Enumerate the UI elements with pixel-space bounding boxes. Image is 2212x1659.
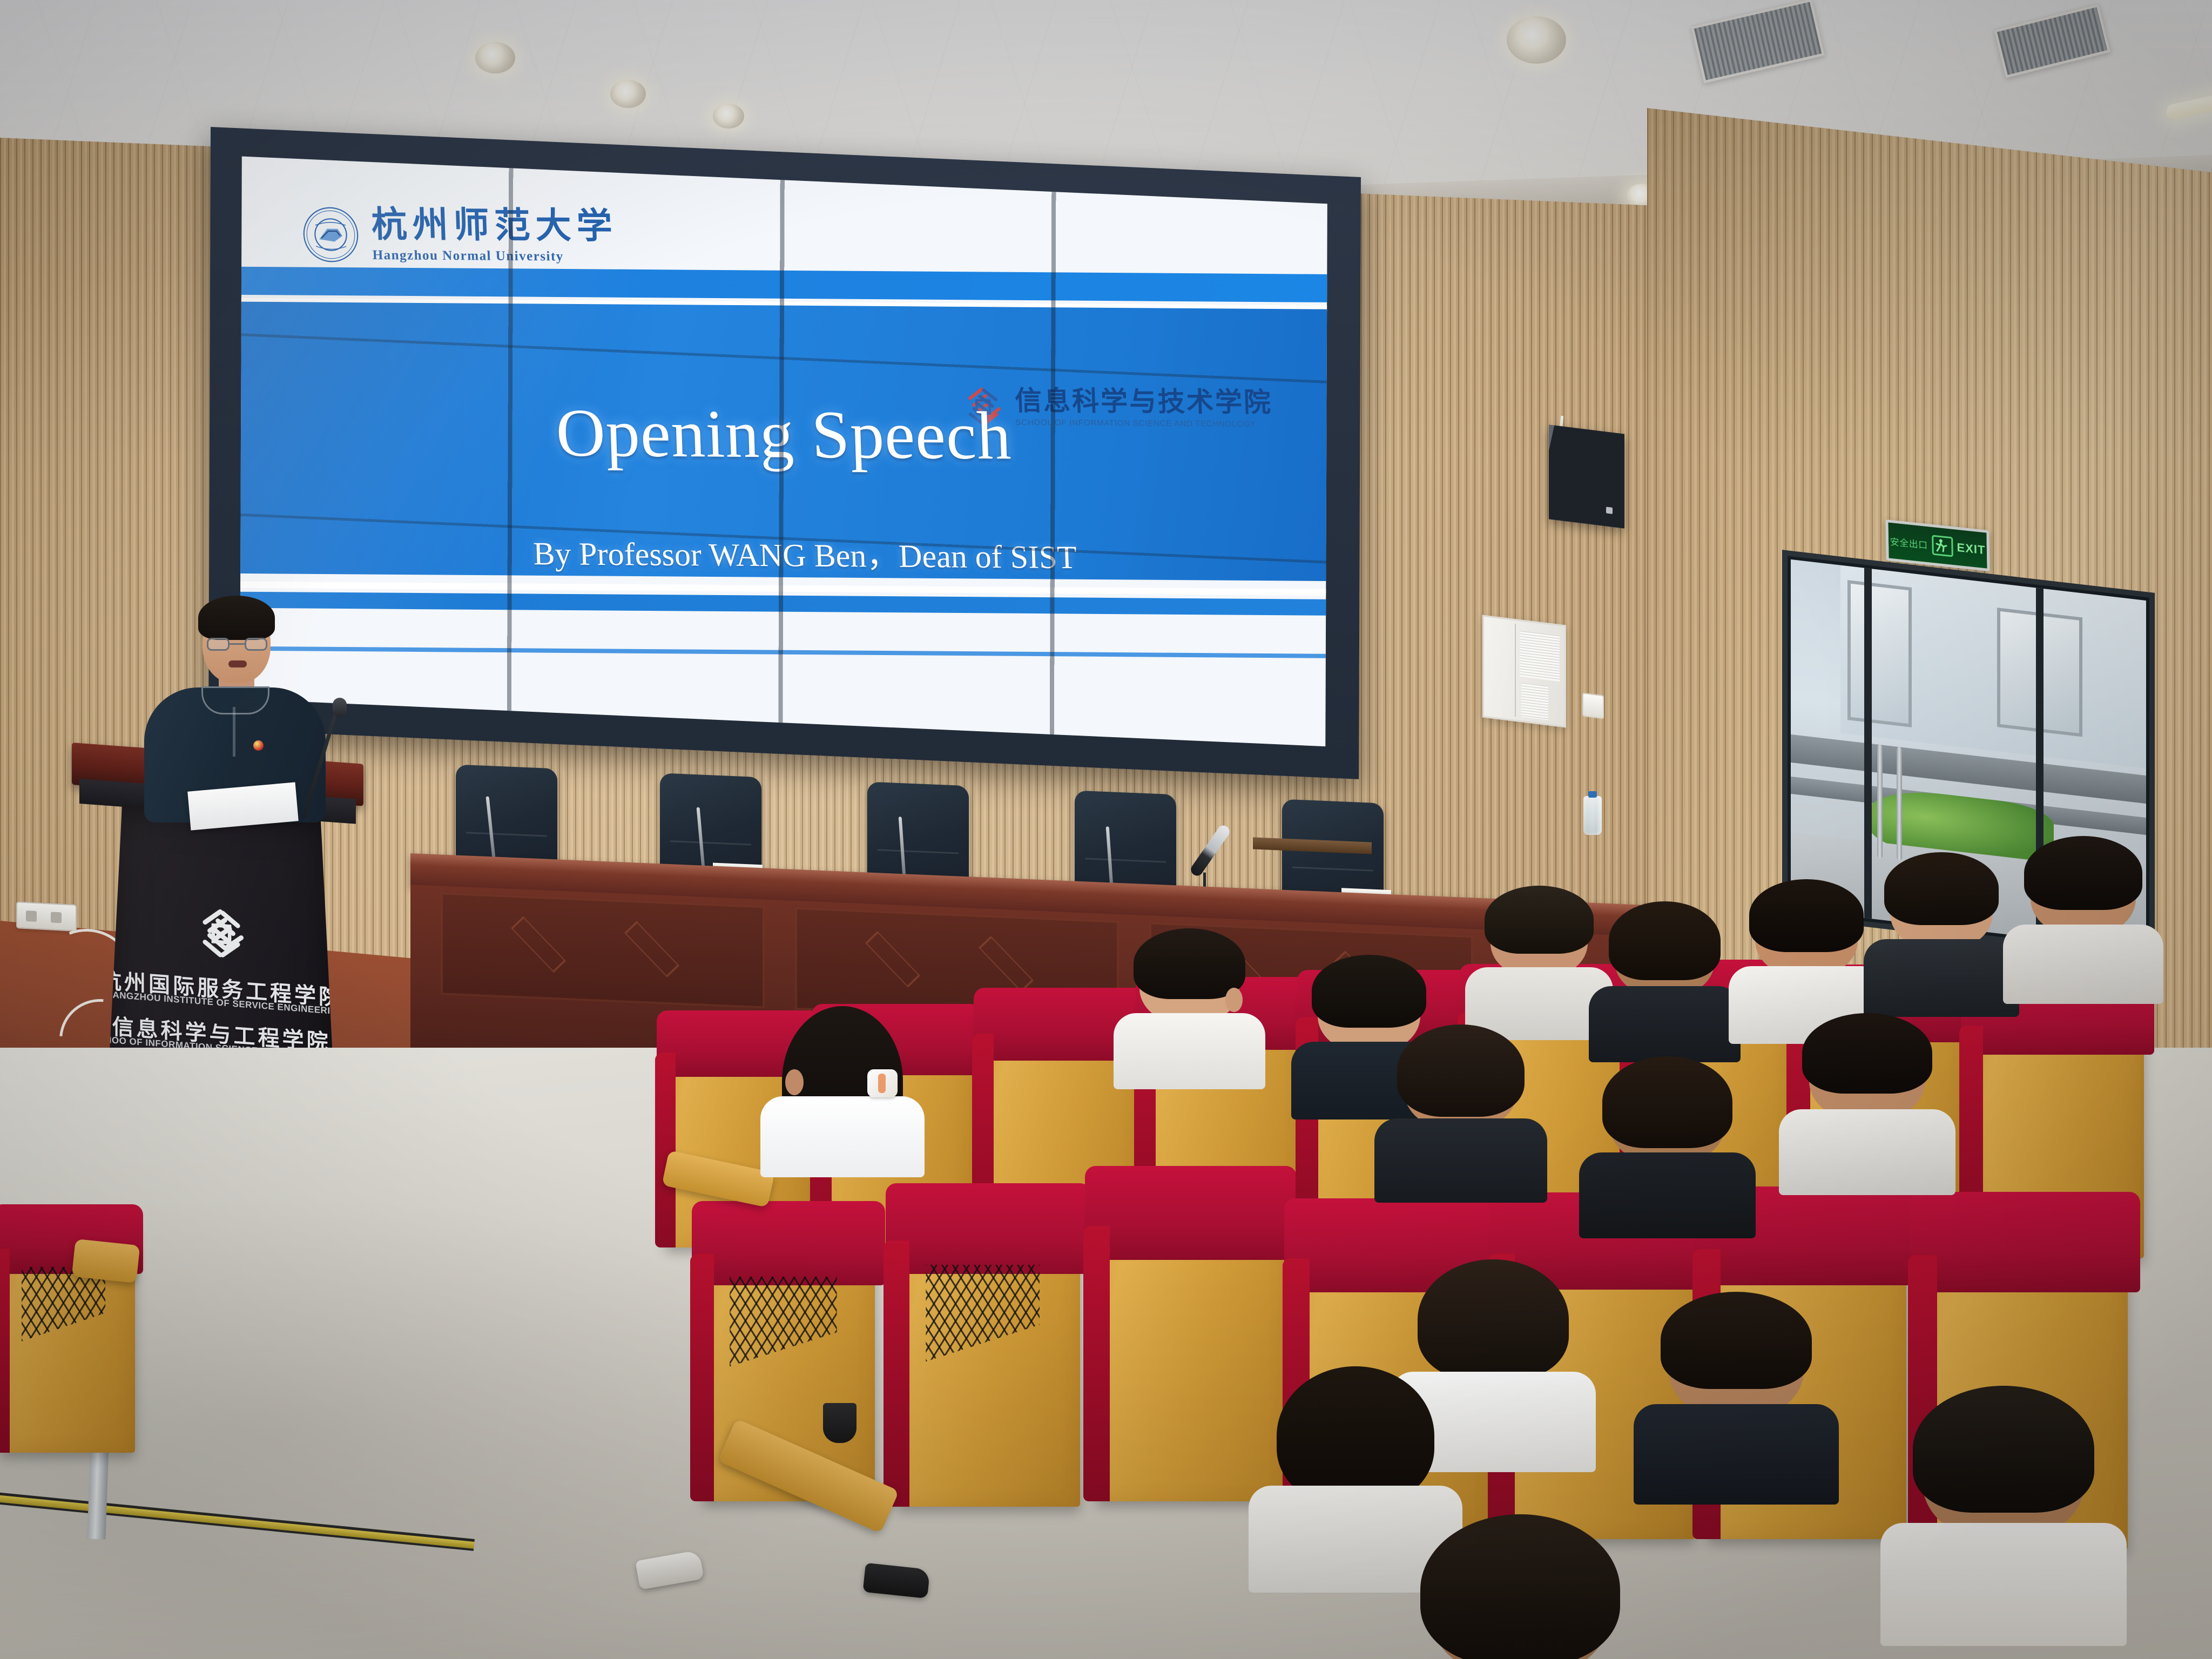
slide-subtitle: By Professor WANG Ben，Dean of SIST [532,527,1077,578]
ceiling-downlight [713,104,744,129]
person-ear [1225,988,1242,1012]
university-name-en: Hangzhou Normal University [372,248,619,265]
university-branding: 杭州师范大学 Hangzhou Normal University [300,205,618,266]
slide-hairline [240,646,1327,659]
person-body [1634,1404,1839,1505]
seat-side-panel [884,1240,909,1507]
water-bottle [1583,796,1602,835]
ceiling-downlight [610,80,646,108]
exterior-window [1847,580,1911,727]
person-body [2003,925,2163,1004]
person-hair [1485,886,1594,954]
speaker-hair [198,596,275,640]
notice-paper [1520,631,1560,682]
person-hair [1397,1024,1524,1117]
person-body [1880,1523,2127,1646]
table-panel [441,892,765,1008]
notice-paper [1521,683,1549,720]
audience-member [1755,891,1858,1021]
seat-side-panel [1083,1226,1110,1501]
panel-diamond [865,931,920,988]
person-body [1779,1109,1955,1195]
person-hair [1418,1259,1569,1380]
school-name-cn: 信息科学与技术学院 [1014,387,1272,416]
speaker-mouth [228,660,247,667]
panel-diamond [624,921,679,977]
seat-side-panel [690,1254,714,1501]
school-name-en: SCHOOL OF INFORMATION SCIENCE AND TECHNO… [1015,418,1273,429]
auditorium-seat[interactable] [896,1204,1080,1507]
speaker-presenter [138,591,332,818]
lapel-pin [253,740,264,751]
seat-headrest [692,1201,885,1285]
podium-microphone-head [333,698,347,717]
seat-armrest [72,1239,140,1283]
person-hair [1420,1514,1620,1659]
person-hair [1312,955,1427,1027]
running-man-exit-icon [1931,534,1953,558]
auditorium-seat[interactable] [1096,1188,1285,1501]
audience-member [1809,1026,1925,1169]
person-hair [1609,901,1721,980]
audience-member [1890,864,1993,994]
person-body [760,1096,925,1177]
door-handle[interactable] [1877,744,1883,858]
person-hair [1277,1366,1434,1505]
light-switch[interactable] [1582,693,1604,719]
panel-diamond [979,936,1034,993]
slide-accent-band [240,266,1327,303]
speaker-glasses-icon [207,638,267,651]
sist-interlock-logo-icon [192,902,251,965]
ceiling-downlight [475,42,515,73]
audience-member [1426,1274,1561,1442]
seat-side-panel [655,1053,676,1247]
slide-accent-band-bottom [240,591,1327,616]
audience-member [1285,1382,1426,1561]
seat-side-panel [0,1249,10,1453]
audience-member [1615,913,1715,1040]
audience-member [1139,940,1239,1067]
person-hair [1134,928,1245,1000]
audience-member [2031,848,2136,980]
person-hair [1913,1386,2094,1513]
person-body [1579,1152,1756,1238]
speaker-placket [233,707,235,757]
person-hair [1884,852,1999,925]
lecture-hall-photo: 杭州师范大学 Hangzhou Normal University 信息科学与技… [0,0,2212,1659]
exit-label-en: EXIT [1957,541,1985,558]
audience-member [1404,1037,1518,1177]
person-hair [1661,1292,1812,1389]
audience-member [1491,896,1588,1018]
person-hair [1749,879,1864,952]
seat-headrest [1910,1192,2140,1292]
person-hair [2024,836,2142,910]
hangzhou-normal-university-seal-icon [300,205,361,264]
panel-diamond [511,916,566,973]
power-outlet[interactable] [16,901,77,932]
audience-member [1431,1534,1609,1659]
seat-headrest [1085,1166,1297,1260]
seat-cup-holder [823,1403,857,1443]
audience-member [1669,1307,1804,1474]
wall-speaker [1549,424,1624,528]
video-wall-screen[interactable]: 杭州师范大学 Hangzhou Normal University 信息科学与技… [208,127,1361,779]
notice-panel[interactable] [1482,615,1566,727]
person-body [1114,1013,1265,1089]
exit-label-cn: 安全出口 [1890,534,1927,551]
hair-clip [867,1069,898,1097]
person-hair [1602,1056,1732,1148]
speaker-collar [201,686,269,714]
door-handle[interactable] [1897,747,1902,861]
person-hair [1802,1013,1932,1093]
person-body [1589,986,1741,1062]
ceiling-downlight [1507,16,1566,64]
door-mullion [1864,568,1872,919]
presentation-slide: 杭州师范大学 Hangzhou Normal University 信息科学与技… [240,157,1327,747]
slide-title: Opening Speech [555,395,1013,476]
panel-divider [1515,623,1516,717]
person-ear [785,1069,804,1095]
audience-member [1609,1069,1725,1212]
seat-headrest [886,1183,1091,1274]
person-body [1864,939,2020,1017]
audience-member [1923,1404,2085,1609]
person-body [1374,1118,1547,1203]
university-name-cn: 杭州师范大学 [370,207,618,245]
